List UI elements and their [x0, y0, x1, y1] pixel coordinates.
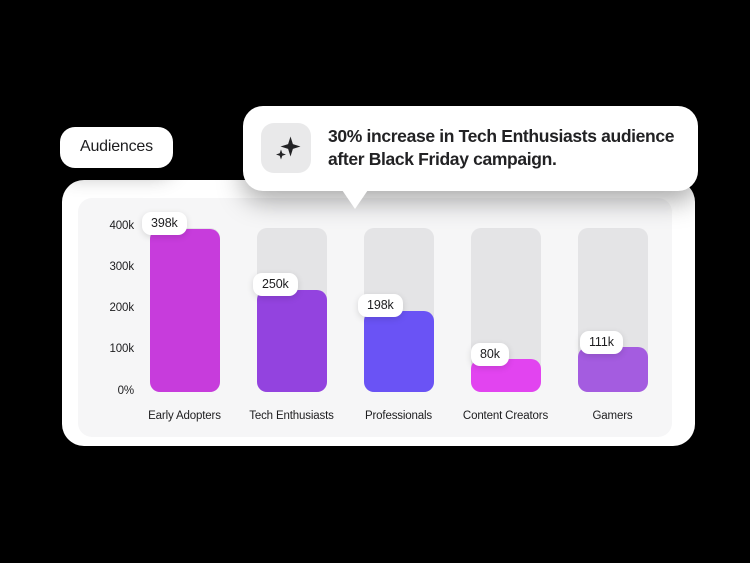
value-label-early-adopters: 398k — [142, 212, 187, 235]
bar-slot-professionals[interactable]: 198k Professionals — [346, 198, 451, 437]
y-axis: 400k 300k 200k 100k 0% — [88, 198, 134, 437]
category-label-early-adopters: Early Adopters — [148, 410, 221, 422]
bar-slot-tech-enthusiasts[interactable]: 250k Tech Enthusiasts — [239, 198, 344, 437]
ai-sparkle-icon — [261, 123, 311, 173]
plot-area: 400k 300k 200k 100k 0% 398k Early Adopte… — [78, 198, 672, 437]
bar-slot-gamers[interactable]: 111k Gamers — [560, 198, 665, 437]
value-label-tech-enthusiasts: 250k — [253, 273, 298, 296]
y-tick-100k: 100k — [109, 343, 134, 355]
bar-slot-early-adopters[interactable]: 398k Early Adopters — [132, 198, 237, 437]
y-tick-200k: 200k — [109, 302, 134, 314]
bar-fill-tech-enthusiasts[interactable] — [257, 290, 327, 392]
y-tick-300k: 300k — [109, 261, 134, 273]
value-label-professionals: 198k — [358, 294, 403, 317]
callout-tail — [340, 187, 370, 209]
bar-chart-panel: 400k 300k 200k 100k 0% 398k Early Adopte… — [78, 198, 672, 437]
category-label-content-creators: Content Creators — [463, 410, 548, 422]
category-label-tech-enthusiasts: Tech Enthusiasts — [249, 410, 334, 422]
ai-insight-callout[interactable]: 30% increase in Tech Enthusiasts audienc… — [243, 106, 698, 191]
value-label-gamers: 111k — [580, 331, 623, 354]
ai-insight-text: 30% increase in Tech Enthusiasts audienc… — [328, 125, 678, 171]
screenshot-root: 400k 300k 200k 100k 0% 398k Early Adopte… — [0, 0, 750, 563]
audiences-label-pill[interactable]: Audiences — [60, 127, 173, 168]
y-tick-400k: 400k — [109, 220, 134, 232]
bar-fill-professionals[interactable] — [364, 311, 434, 392]
bar-slot-content-creators[interactable]: 80k Content Creators — [453, 198, 558, 437]
bar-group: 398k Early Adopters 250k Tech Enthusiast… — [132, 198, 662, 437]
category-label-gamers: Gamers — [593, 410, 633, 422]
category-label-professionals: Professionals — [365, 410, 432, 422]
value-label-content-creators: 80k — [471, 343, 509, 366]
bar-fill-early-adopters[interactable] — [150, 229, 220, 392]
